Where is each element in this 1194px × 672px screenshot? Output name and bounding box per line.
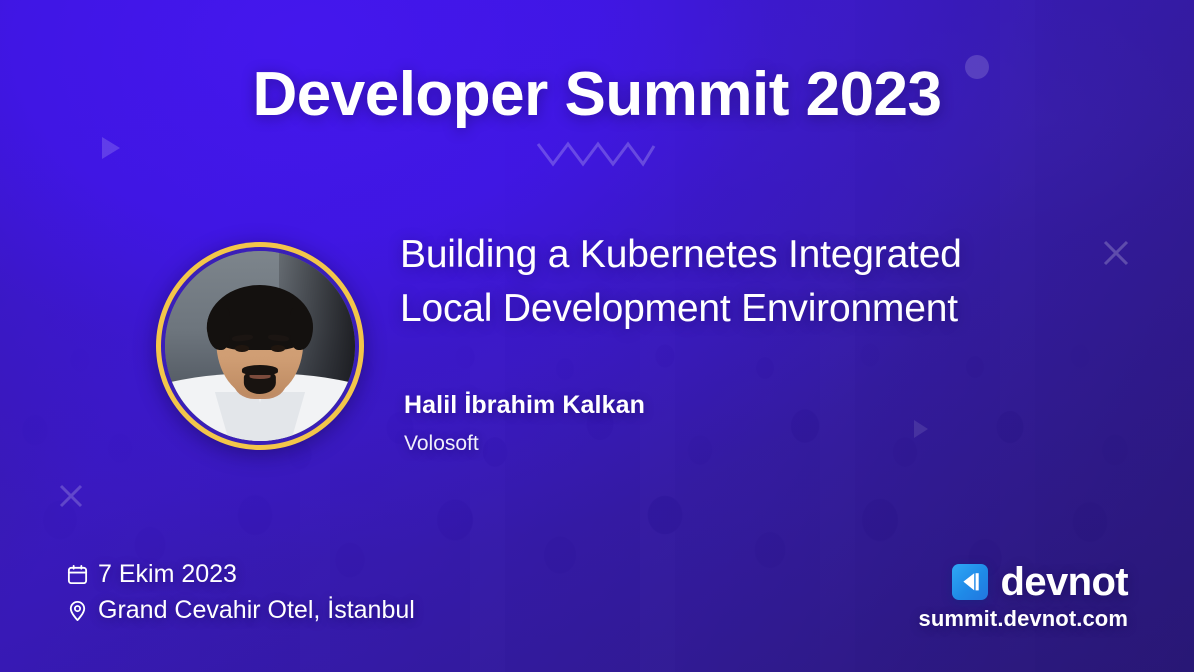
devnot-wordmark: devnot (1000, 562, 1128, 602)
session-title: Building a Kubernetes Integrated Local D… (400, 228, 1090, 336)
speaker-avatar (156, 242, 364, 450)
summit-announcement-banner: Developer Summit 2023 Building a Kuberne… (0, 0, 1194, 672)
calendar-icon (66, 563, 89, 586)
session-title-line-1: Building a Kubernetes Integrated (400, 228, 1090, 282)
map-pin-icon (66, 599, 89, 622)
speaker-photo (165, 251, 355, 441)
speaker-company: Volosoft (404, 432, 479, 456)
event-location-row: Grand Cevahir Otel, İstanbul (66, 593, 415, 629)
brand-lockup-container: devnot summit.devnot.com (918, 562, 1128, 632)
avatar-ring-gap (161, 247, 359, 445)
event-date-text: 7 Ekim 2023 (98, 557, 237, 593)
event-date-row: 7 Ekim 2023 (66, 557, 415, 593)
event-location-text: Grand Cevahir Otel, İstanbul (98, 593, 415, 629)
speaker-name: Halil İbrahim Kalkan (404, 391, 645, 420)
devnot-logo[interactable]: devnot (952, 562, 1128, 602)
session-title-line-2: Local Development Environment (400, 282, 1090, 336)
summit-url[interactable]: summit.devnot.com (918, 606, 1128, 632)
event-meta: 7 Ekim 2023 Grand Cevahir Otel, İstanbul (66, 557, 415, 628)
event-title: Developer Summit 2023 (0, 62, 1194, 127)
devnot-logo-icon (952, 564, 988, 600)
